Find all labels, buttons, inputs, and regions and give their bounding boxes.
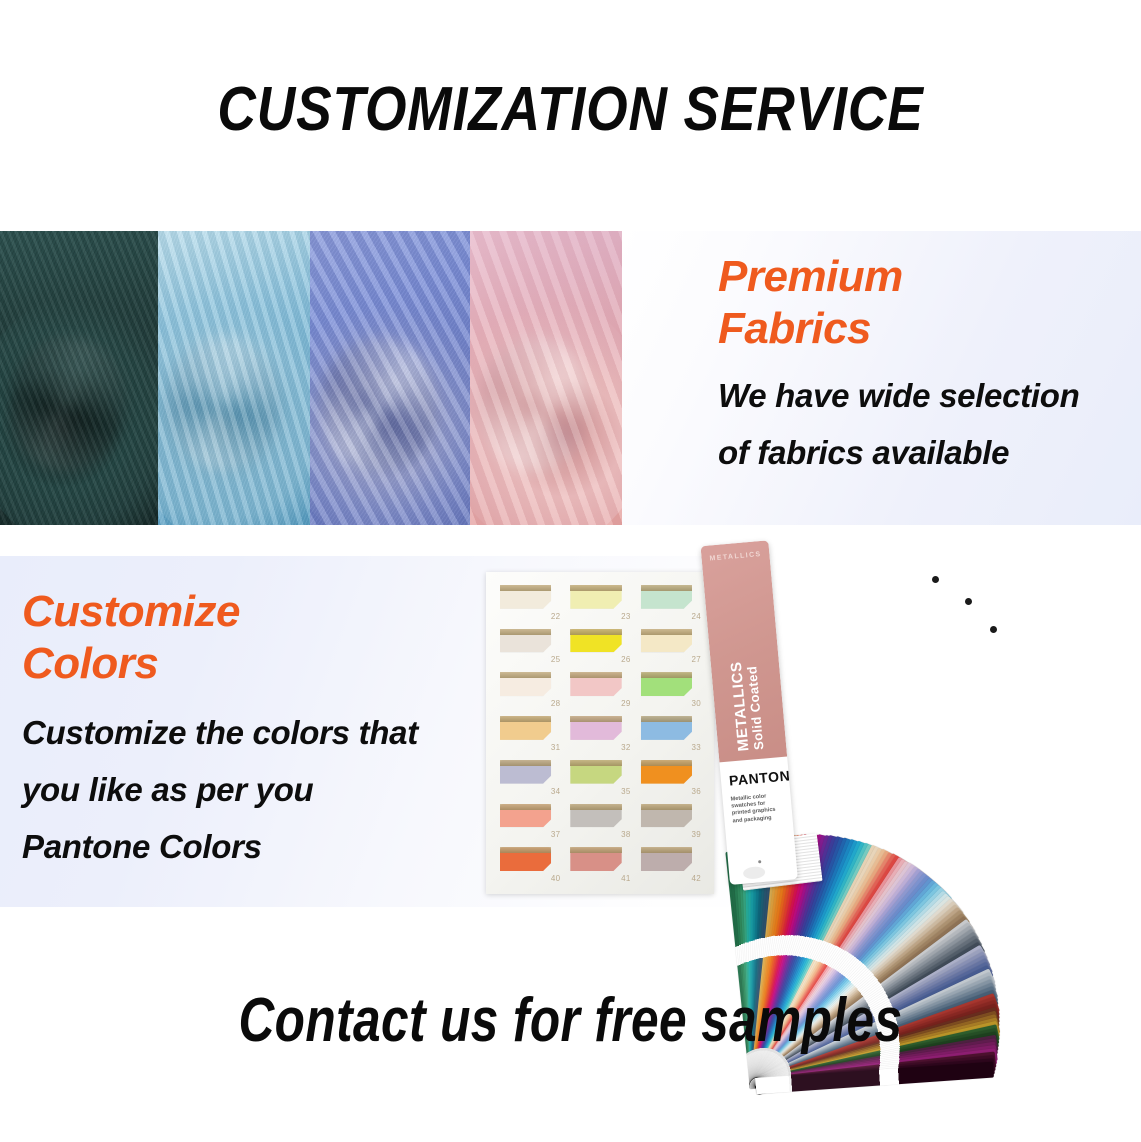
swatch-chip-32: 32	[568, 714, 631, 752]
swatch-chip-35: 35	[568, 758, 631, 796]
swatch-chip-number: 25	[551, 655, 561, 664]
swatch-chip-number: 22	[551, 612, 561, 621]
swatch-chip-36: 36	[639, 758, 702, 796]
swatch-chip-42: 42	[639, 845, 702, 883]
swatch-chip-binding	[641, 629, 692, 635]
footer-cta: Contact us for free samples	[114, 985, 1027, 1056]
swatch-chip-41: 41	[568, 845, 631, 883]
swatch-chip-binding	[500, 760, 551, 766]
swatch-chip-binding	[641, 847, 692, 853]
swatch-chip-30: 30	[639, 670, 702, 708]
customize-colors-body-line3: Pantone Colors	[22, 818, 418, 875]
fan-deck-cover-vertical-title: METALLICS Solid Coated	[721, 566, 767, 758]
customize-colors-body-line1: Customize the colors that	[22, 704, 418, 761]
swatch-chip-34: 34	[498, 758, 561, 796]
swatch-chip-39: 39	[639, 802, 702, 840]
premium-fabrics-text-panel: Premium Fabrics We have wide selection o…	[622, 231, 1141, 525]
swatch-chip-number: 34	[551, 787, 561, 796]
fan-deck-thumb-notch	[743, 866, 766, 880]
swatch-chip-number: 41	[621, 874, 631, 883]
premium-fabrics-body-line1: We have wide selection	[718, 367, 1079, 424]
swatch-chip-26: 26	[568, 627, 631, 665]
swatch-chip-binding	[500, 629, 551, 635]
swatch-chip-binding	[570, 760, 621, 766]
swatch-chip-binding	[570, 847, 621, 853]
fan-deck-punch-hole	[965, 598, 972, 605]
swatch-chip-number: 27	[691, 655, 701, 664]
swatch-chip-number: 29	[621, 699, 631, 708]
swatch-chip-binding	[641, 672, 692, 678]
fan-deck-pivot-dot	[758, 860, 761, 863]
swatch-chip-number: 24	[691, 612, 701, 621]
fabric-swatch-strip	[0, 231, 622, 525]
swatch-chip-28: 28	[498, 670, 561, 708]
swatch-chip-number: 42	[691, 874, 701, 883]
swatch-chip-number: 40	[551, 874, 561, 883]
pantone-logo: PANTONE®	[728, 766, 798, 789]
premium-fabrics-section: Premium Fabrics We have wide selection o…	[0, 231, 1141, 525]
premium-fabrics-heading-line2: Fabrics	[718, 303, 903, 355]
fabric-swatch-blush-pink-fabric	[470, 231, 622, 525]
premium-fabrics-body-line2: of fabrics available	[718, 424, 1079, 481]
swatch-chip-binding	[641, 804, 692, 810]
swatch-chip-binding	[570, 672, 621, 678]
fan-deck-description: Metallic color swatches for printed grap…	[730, 792, 786, 825]
fan-deck-cover-top-label: METALLICS	[709, 551, 762, 563]
swatch-chip-40: 40	[498, 845, 561, 883]
swatch-chip-binding	[500, 672, 551, 678]
swatch-chip-binding	[641, 716, 692, 722]
swatch-chip-31: 31	[498, 714, 561, 752]
swatch-chip-binding	[500, 847, 551, 853]
swatch-chip-binding	[570, 716, 621, 722]
swatch-chip-binding	[641, 585, 692, 591]
swatch-chip-number: 26	[621, 655, 631, 664]
swatch-chip-number: 39	[691, 830, 701, 839]
swatch-chip-number: 35	[621, 787, 631, 796]
fan-deck-punch-hole	[932, 576, 939, 583]
swatch-chip-23: 23	[568, 583, 631, 621]
swatch-chip-37: 37	[498, 802, 561, 840]
premium-fabrics-heading-line1: Premium	[718, 251, 903, 303]
customize-colors-heading: Customize Colors	[22, 586, 240, 690]
swatch-chip-number: 36	[691, 787, 701, 796]
swatch-chip-number: 37	[551, 830, 561, 839]
swatch-chip-33: 33	[639, 714, 702, 752]
swatch-chip-number: 23	[621, 612, 631, 621]
swatch-chip-22: 22	[498, 583, 561, 621]
fan-deck-punch-hole	[990, 626, 997, 633]
swatch-chip-number: 31	[551, 743, 561, 752]
fabric-swatch-dark-teal-ribbed-fabric	[0, 231, 158, 525]
pantone-paper-swatch-card: 2223242526272829303132333435363738394041…	[486, 572, 714, 894]
swatch-chip-38: 38	[568, 802, 631, 840]
swatch-chip-binding	[641, 760, 692, 766]
fabric-swatch-light-blue-fabric	[158, 231, 310, 525]
swatch-chip-number: 30	[691, 699, 701, 708]
customize-colors-heading-line2: Colors	[22, 638, 240, 690]
customize-colors-body-line2: you like as per you	[22, 761, 418, 818]
swatch-chip-24: 24	[639, 583, 702, 621]
swatch-chip-29: 29	[568, 670, 631, 708]
premium-fabrics-heading: Premium Fabrics	[718, 251, 903, 355]
swatch-chip-binding	[570, 585, 621, 591]
swatch-chip-number: 32	[621, 743, 631, 752]
swatch-chip-number: 33	[691, 743, 701, 752]
swatch-chip-binding	[570, 804, 621, 810]
customize-colors-heading-line1: Customize	[22, 586, 240, 638]
swatch-chip-binding	[570, 629, 621, 635]
swatch-chip-binding	[500, 804, 551, 810]
swatch-chip-25: 25	[498, 627, 561, 665]
swatch-chip-number: 38	[621, 830, 631, 839]
swatch-chip-binding	[500, 585, 551, 591]
fabric-swatch-periwinkle-blue-fabric	[310, 231, 470, 525]
swatch-chip-number: 28	[551, 699, 561, 708]
swatch-chip-binding	[500, 716, 551, 722]
pantone-metallics-fan-deck: METALLICS METALLICS Solid Coated PANTONE…	[722, 538, 1141, 910]
pantone-wordmark: PANTONE	[728, 766, 798, 788]
customize-colors-body: Customize the colors that you like as pe…	[22, 704, 418, 875]
swatch-chip-27: 27	[639, 627, 702, 665]
premium-fabrics-body: We have wide selection of fabrics availa…	[718, 367, 1079, 481]
page-title: CUSTOMIZATION SERVICE	[80, 74, 1061, 145]
